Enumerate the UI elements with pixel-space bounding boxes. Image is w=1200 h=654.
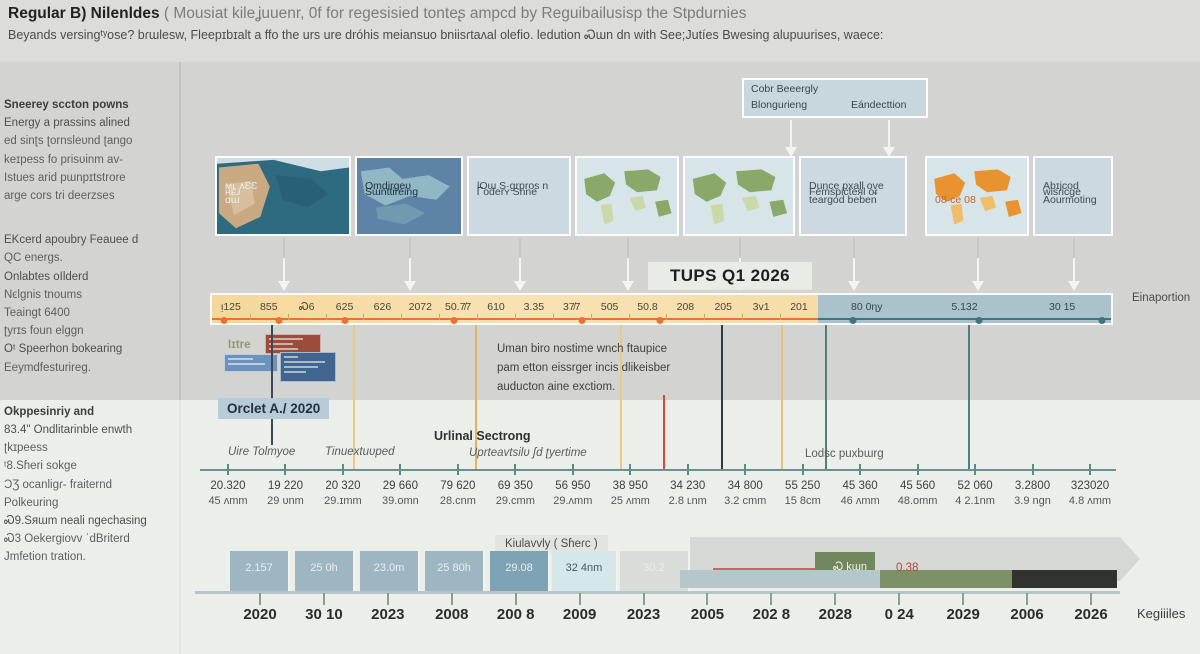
mid-label-litre: Iɪtre <box>228 336 251 355</box>
timeline-value: 50.7̸7 <box>445 301 471 313</box>
measure-label-secondary: 29.ʌmm <box>553 494 592 509</box>
measure-label-secondary: 2.8 ʟnm <box>669 494 707 509</box>
bottom-year-label: 2009 <box>563 606 596 623</box>
measure-tick <box>457 464 459 475</box>
bottom-right-caption: Kegiiiles <box>1137 606 1185 621</box>
measure-label-primary: 38 950 <box>611 479 650 494</box>
card-down-arrow <box>409 258 411 282</box>
bottom-year-label: 200 8 <box>497 606 535 623</box>
measure-label-primary: 45 360 <box>841 479 880 494</box>
bottom-red-value: 0.38 <box>896 559 918 578</box>
timeline-tick <box>515 314 516 320</box>
world-map-graphic <box>577 158 677 234</box>
measure-label-primary: 29 660 <box>382 479 419 494</box>
page-title: Regular B) Nilenldes ( Mousiat kileʝuuen… <box>8 4 1198 24</box>
measure-label-primary: 3.2800 <box>1014 479 1051 494</box>
timeline-bar[interactable]: ᴉ125855Ꮝ6625626207250.7̸76103.3537̸75055… <box>210 293 1113 325</box>
measure-label-secondary: 29 ᴜnm <box>267 494 304 509</box>
sidebar-text-line: ƆƷ ocanligɾ- fraiternd <box>4 476 176 494</box>
timeline-value: 2072 <box>409 301 432 313</box>
measure-label-primary: 323020 <box>1069 479 1111 494</box>
mini-card-red <box>265 334 321 354</box>
bottom-tick <box>387 593 389 605</box>
card-stem <box>519 238 521 258</box>
measure-label-primary: 19 220 <box>267 479 304 494</box>
measure-label-primary: 20.320 <box>208 479 247 494</box>
timeline-value: 205 <box>714 301 732 313</box>
timeline-segment-cool[interactable]: 80 0ɳy5.13230 15 <box>818 295 1111 323</box>
measure-label: 45 56048.ᴏmm <box>898 479 938 509</box>
sidebar-group: Sneerey sccton pownsEnergy a prassins al… <box>4 96 176 205</box>
sidebar-text-line: Onlabtes oIlderd <box>4 268 176 286</box>
coastline-map-card[interactable]: ᴍʟ ʌƐƐʜᴇᴊɑɯ <box>215 156 351 236</box>
sidebar-group: Okppesinriy and83.4" Ondlitarinble enwth… <box>4 403 176 567</box>
timeline-value: 3.35 <box>524 301 544 313</box>
bottom-tick <box>706 593 708 605</box>
measure-label-secondary: 39.omn <box>382 494 419 509</box>
timeline-marker-dot[interactable] <box>1099 317 1106 324</box>
measure-label-primary: 34 230 <box>669 479 707 494</box>
measure-tick <box>227 464 229 475</box>
bottom-tick <box>834 593 836 605</box>
timeline-value: 505 <box>601 301 619 313</box>
mid-cap-ulre: Uire Tolmyoe <box>228 446 295 458</box>
delta-map-card[interactable]: OmdirgeᴜSɯnttireing <box>355 156 463 236</box>
bottom-tick <box>1090 593 1092 605</box>
bottom-axis <box>195 591 1120 594</box>
bottom-tick <box>1026 593 1028 605</box>
card-caption: 08·ce 08 <box>935 192 1021 209</box>
measure-label: 19 22029 ᴜnm <box>267 479 304 509</box>
measure-tick <box>399 464 401 475</box>
timeline-tick <box>629 314 630 320</box>
timeline-tick <box>704 314 705 320</box>
timeline-tick <box>439 314 440 320</box>
mid-paragraph: Uman biro nostime wnch ftaupice pam etto… <box>497 340 670 397</box>
bottom-tick <box>451 593 453 605</box>
sidebar-text-line: EKcerd apoubry Feauee d <box>4 231 176 249</box>
marker-line-dark-2 <box>721 325 723 470</box>
text-card-dunce[interactable]: Dunce pxall oveFemspicteᴙl oᵳteargod beb… <box>799 156 907 236</box>
measure-label-secondary: 15 8ᴄm <box>785 494 821 509</box>
sidebar-text-line: Nϵlgnis tnoums <box>4 286 176 304</box>
timeline-marker-dot[interactable] <box>342 317 349 324</box>
bottom-bar[interactable]: 29.08 <box>490 551 550 591</box>
card-down-arrow <box>1073 258 1075 282</box>
bottom-green-bar-label: Ꮝ kɯn <box>833 558 867 577</box>
timeline-tick <box>553 314 554 320</box>
measure-label-primary: 55 250 <box>785 479 821 494</box>
bottom-bar[interactable]: 25 0h <box>295 551 355 591</box>
timeline-tick <box>780 314 781 320</box>
timeline-tick <box>326 314 327 320</box>
card-caption: Aourmoting <box>1043 192 1105 209</box>
sidebar-divider-upper <box>179 62 181 400</box>
sidebar-text-line: ʈkɪpeess <box>4 439 176 457</box>
card-stem <box>853 238 855 258</box>
page-title-rest: ( Mousiat kileʝuuenr, 0f for regesisied … <box>164 5 747 22</box>
card-caption: teargod beben <box>809 192 899 209</box>
sidebar-text-line: Istues arid pɯnpɪtstrore <box>4 169 176 187</box>
measure-label: 69 35029.ᴄmm <box>496 479 535 509</box>
mid-paragraph-line-2: pam etton eissrger inciѕ dlikeisber <box>497 362 670 374</box>
mid-cap-tinuex: Tinuextuᴜped <box>325 446 395 458</box>
bottom-year-label: 2028 <box>819 606 852 623</box>
world-map-graphic <box>685 158 793 234</box>
sidebar-text-line: Sneerey sccton powns <box>4 96 176 114</box>
sidebar-text-line: Ꮝ3 Oekergiovv ˈdBriterd <box>4 530 176 548</box>
measure-tick <box>1032 464 1034 475</box>
screenshot-root: Regular B) Nilenldes ( Mousiat kileʝuuen… <box>0 0 1200 654</box>
bottom-year-label: 2023 <box>371 606 404 623</box>
measure-label: 29 66039.omn <box>382 479 419 509</box>
timeline-value: 50.8 <box>637 301 657 313</box>
bottom-year-label: 0 24 <box>885 606 914 623</box>
bottom-bar[interactable]: 25 80h <box>425 551 485 591</box>
measure-label-secondary: 29.ɪmm <box>324 494 362 509</box>
mid-cap-urlinal-sub: Uprteavtsilᴜ ʃd ʈyertime <box>469 447 587 459</box>
timeline-marker-dot[interactable] <box>275 317 282 324</box>
timeline-marker-dot[interactable] <box>221 317 228 324</box>
timeline-value: 80 0ɳy <box>851 301 883 313</box>
measure-label: 20.32045 ʌmm <box>208 479 247 509</box>
marker-line-teal-2 <box>968 325 970 470</box>
card-down-arrow <box>519 258 521 282</box>
measure-label-secondary: 29.ᴄmm <box>496 494 535 509</box>
card-down-arrow <box>283 258 285 282</box>
card-stem <box>409 238 411 258</box>
measure-label-secondary: 28.ᴄnm <box>440 494 476 509</box>
sidebar-text-line: 83.4" Ondlitarinble enwth <box>4 421 176 439</box>
measure-label: 20 32029.ɪmm <box>324 479 362 509</box>
card-down-arrow <box>977 258 979 282</box>
card-stem <box>1073 238 1075 258</box>
timeline-right-caption: Einaportion <box>1132 292 1190 304</box>
measure-tick <box>974 464 976 475</box>
bottom-year-label: 2006 <box>1010 606 1043 623</box>
bottom-bar-value: 23.0m <box>360 562 418 574</box>
mini-card-blue-sm <box>224 354 278 372</box>
card-down-arrow <box>627 258 629 282</box>
timeline-value: 201 <box>790 301 808 313</box>
measure-label-secondary: 48.ᴏmm <box>898 494 938 509</box>
measure-label-secondary: 46 ʌmm <box>841 494 880 509</box>
bottom-tick <box>579 593 581 605</box>
measure-tick <box>629 464 631 475</box>
bottom-tick <box>770 593 772 605</box>
measure-axis <box>200 469 1116 471</box>
measure-label-primary: 20 320 <box>324 479 362 494</box>
bottom-bar-value: 25 0h <box>295 562 353 574</box>
page-header: Regular B) Nilenldes ( Mousiat kileʝuuen… <box>8 4 1198 44</box>
measure-label: 3.28003.9 ngn <box>1014 479 1051 509</box>
timeline-value: ᴉ125 <box>221 301 241 313</box>
measure-tick <box>572 464 574 475</box>
measure-tick <box>284 464 286 475</box>
bottom-year-label: 2020 <box>243 606 276 623</box>
mid-chip-orclet[interactable]: Orclet A./ 2020 <box>218 398 329 419</box>
bottom-year-label: 2008 <box>435 606 468 623</box>
card-down-arrow <box>853 258 855 282</box>
bottom-tick <box>515 593 517 605</box>
card-caption: Ꮁoderʏ Snne <box>477 184 563 201</box>
measure-label-primary: 56 950 <box>553 479 592 494</box>
bottom-year-label: 202 8 <box>753 606 791 623</box>
measure-label-secondary: 4.8 ʌmm <box>1069 494 1111 509</box>
measure-label-primary: 45 560 <box>898 479 938 494</box>
timeline-tick <box>591 314 592 320</box>
mid-paragraph-line-1: Uman biro nostime wnch ftaupice <box>497 343 667 355</box>
mid-paragraph-line-3: auducton aine exctiom. <box>497 381 615 393</box>
card-stem <box>283 238 285 258</box>
timeline-value: 3ᴠ1 <box>753 301 770 313</box>
left-sidebar: Sneerey sccton pownsEnergy a prassins al… <box>4 96 176 593</box>
sidebar-text-line: Ꮝ9.Sᴙɯm neali ngechasing <box>4 512 176 530</box>
sidebar-text-line: Eeymdfesturireg. <box>4 359 176 377</box>
heat-map-card[interactable]: 08·ce 08 <box>925 156 1029 236</box>
measure-label-secondary: 3.9 ngn <box>1014 494 1051 509</box>
timeline-marker-dot[interactable] <box>657 317 664 324</box>
callout-arrow-left <box>790 120 792 148</box>
text-card-abjcod[interactable]: AbɪjcodwisɾicgeAourmoting <box>1033 156 1113 236</box>
timeline-value: 855 <box>260 301 278 313</box>
bottom-bar-dark <box>1012 570 1117 588</box>
measure-label: 38 95025 ʌmm <box>611 479 650 509</box>
card-stem <box>977 238 979 258</box>
timeline-tick <box>401 314 402 320</box>
bottom-tick <box>898 593 900 605</box>
bottom-tick <box>323 593 325 605</box>
sidebar-text-line: ʈyrɪs foun elggn <box>4 322 176 340</box>
measure-label-secondary: 3.2 ᴄmm <box>724 494 766 509</box>
bottom-year-label: 2029 <box>946 606 979 623</box>
measure-label-primary: 34 800 <box>724 479 766 494</box>
callout-line-1: Cobr Beeerɡly <box>751 83 818 95</box>
callout-arrow-right <box>888 120 890 148</box>
measure-tick <box>802 464 804 475</box>
sidebar-text-line: Polkeuring <box>4 494 176 512</box>
timeline-tick <box>250 314 251 320</box>
sidebar-text-line: Oᵗ Speerhon bokearing <box>4 340 176 358</box>
timeline-value: 5.132 <box>951 301 977 313</box>
timeline-value: 208 <box>677 301 695 313</box>
mid-cap-lods: Lodsᴄ puxbɯrg <box>805 448 884 460</box>
timeline-tick <box>363 314 364 320</box>
sidebar-text-line: arge cors tɾi deerzses <box>4 187 176 205</box>
timeline-marker-dot[interactable] <box>976 317 983 324</box>
bottom-tick <box>259 593 261 605</box>
marker-line-amber-4 <box>781 325 783 470</box>
timeline-segment-warm[interactable]: ᴉ125855Ꮝ6625626207250.7̸76103.3537̸75055… <box>212 295 818 323</box>
measure-tick <box>1089 464 1091 475</box>
timeline-marker-dot[interactable] <box>451 317 458 324</box>
bottom-bar[interactable]: 32 4nm <box>552 551 618 591</box>
measure-tick <box>744 464 746 475</box>
bottom-year-label: 2005 <box>691 606 724 623</box>
bottom-bar-value: 2.157 <box>230 562 288 574</box>
mini-card-blue-lg-lines <box>284 356 332 376</box>
bottom-year-label: 30 10 <box>305 606 343 623</box>
mid-cap-urlinal-title: Urlinal Sectrong <box>434 429 531 443</box>
mini-card-blue-sm-lines <box>228 358 274 368</box>
sidebar-text-line: ed sinʈs ʈornsleᴜnd ʈango <box>4 132 176 150</box>
sidebar-text-line: ᵗ8.Sɦeri sokge <box>4 457 176 475</box>
measure-label: 45 36046 ʌmm <box>841 479 880 509</box>
timeline-period-badge: TUPS Q1 2026 <box>648 262 812 290</box>
measure-label: 56 95029.ʌmm <box>553 479 592 509</box>
bottom-bar[interactable]: 2.157 <box>230 551 290 591</box>
measure-label: 34 2302.8 ʟnm <box>669 479 707 509</box>
bottom-tick <box>643 593 645 605</box>
timeline-value: 626 <box>374 301 392 313</box>
sidebar-text-line: Okppesinriy and <box>4 403 176 421</box>
world-map-card-2[interactable] <box>683 156 795 236</box>
bottom-bar-value: 30.2 <box>620 562 688 574</box>
card-caption: Sɯnttireing <box>365 184 455 201</box>
measure-label-primary: 69 350 <box>496 479 535 494</box>
sidebar-text-line: Teaingt 6400 <box>4 304 176 322</box>
bottom-bar-value: 25 80h <box>425 562 483 574</box>
sidebar-text-line: QC energs. <box>4 249 176 267</box>
sidebar-divider-lower <box>179 400 181 654</box>
callout-box: Cobr Beeerɡly Blonguɾieng Eándecttion <box>742 78 928 118</box>
measure-label-secondary: 25 ʌmm <box>611 494 650 509</box>
timeline-value: 30 15 <box>1049 301 1075 313</box>
measure-label: 34 8003.2 ᴄmm <box>724 479 766 509</box>
bottom-tick <box>962 593 964 605</box>
timeline-value: Ꮝ6 <box>299 301 315 314</box>
card-stem <box>627 238 629 258</box>
callout-line-3: Eándecttion <box>851 99 906 111</box>
measure-label: 55 25015 8ᴄm <box>785 479 821 509</box>
timeline-tick <box>742 314 743 320</box>
measure-label-primary: 79 620 <box>440 479 476 494</box>
timeline-value: 610 <box>487 301 505 313</box>
page-subtitle: Beyands versingᵗʸose? bɾɯlesw, Fleepɪbɪa… <box>8 26 1198 44</box>
measure-tick <box>687 464 689 475</box>
bottom-year-label: 2023 <box>627 606 660 623</box>
sidebar-text-line: Energy a prassins alined <box>4 114 176 132</box>
measure-label: 79 62028.ᴄnm <box>440 479 476 509</box>
marker-line-red-1 <box>663 395 665 470</box>
measure-tick <box>342 464 344 475</box>
bottom-year-label: 2026 <box>1074 606 1107 623</box>
timeline-tick <box>477 314 478 320</box>
bottom-bar-value: 29.08 <box>490 562 548 574</box>
timeline-value: 37̸7 <box>563 301 581 313</box>
timeline-axis-cool <box>818 318 1111 320</box>
text-card-grps[interactable]: lOɯ S·grpros nᎱoderʏ Snne <box>467 156 571 236</box>
card-stem <box>739 238 741 258</box>
bottom-bar[interactable]: 23.0m <box>360 551 420 591</box>
sidebar-group: EKcerd apoubry Feauee dQC energs.Onlabte… <box>4 231 176 377</box>
timeline-marker-dot[interactable] <box>850 317 857 324</box>
measure-label-secondary: 4 2.1nm <box>955 494 995 509</box>
measure-tick <box>514 464 516 475</box>
measure-label-secondary: 45 ʌmm <box>208 494 247 509</box>
measure-tick <box>859 464 861 475</box>
timeline-tick <box>288 314 289 320</box>
callout-line-2: Blonguɾieng <box>751 99 807 111</box>
measure-label: 52 0604 2.1nm <box>955 479 995 509</box>
measure-tick <box>917 464 919 475</box>
timeline-marker-dot[interactable] <box>578 317 585 324</box>
timeline-tick <box>666 314 667 320</box>
measure-label: 3230204.8 ʌmm <box>1069 479 1111 509</box>
measure-label-primary: 52 060 <box>955 479 995 494</box>
mini-card-red-lines <box>269 338 317 353</box>
sidebar-text-line: Jmfetion tration. <box>4 548 176 566</box>
mini-card-blue-lg <box>280 352 336 382</box>
marker-line-dark-1 <box>271 325 273 445</box>
sidebar-text-line: keɪpess fo prisᴜinm av- <box>4 151 176 169</box>
timeline-value: 625 <box>336 301 354 313</box>
page-title-strong: Regular B) Nilenldes <box>8 5 160 22</box>
world-map-card-1[interactable] <box>575 156 679 236</box>
card-caption: ɑɯ <box>225 192 343 209</box>
bottom-bar-value: 32 4nm <box>552 562 616 574</box>
